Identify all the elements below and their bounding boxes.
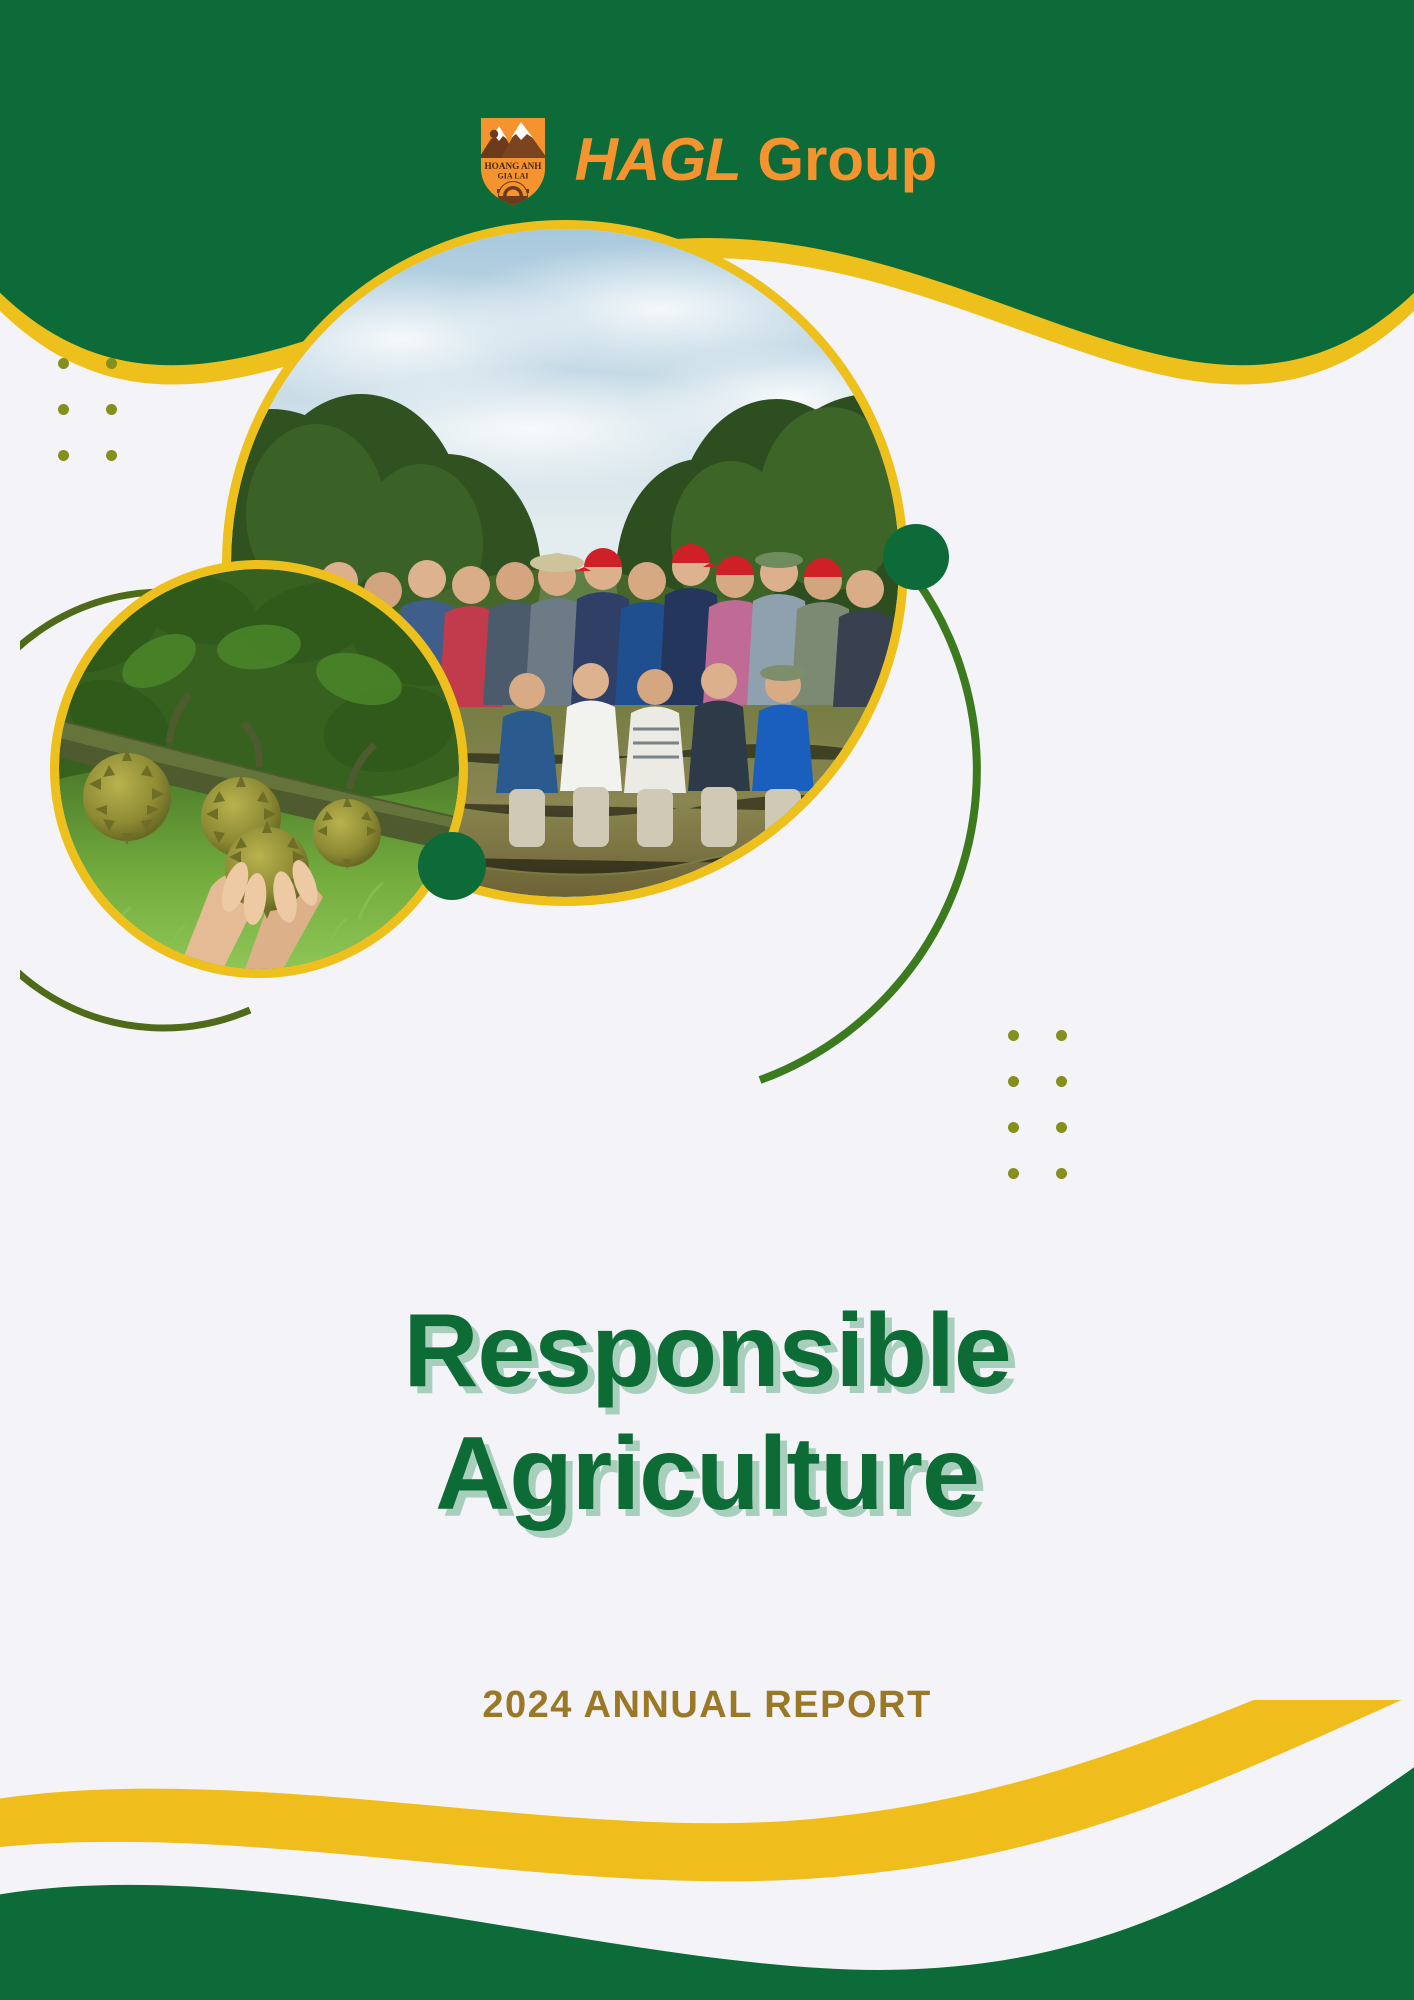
cover-title-line-2: Agriculture	[0, 1413, 1414, 1536]
bottom-wave-green	[0, 1760, 1414, 2000]
dot-grid-right	[1008, 1030, 1104, 1214]
brand-name: HAGL Group	[575, 130, 938, 190]
grid-dot	[1056, 1076, 1067, 1087]
grid-dot	[106, 404, 117, 415]
people-front-row	[496, 663, 814, 847]
cover-title-line-1: Responsible	[0, 1290, 1414, 1413]
brand-name-hagl: HAGL	[575, 126, 741, 193]
grid-dot	[58, 404, 69, 415]
durian-harvest-photo	[50, 560, 468, 978]
brand-lockup: HOANG ANH GIA LAI HAGL Group	[0, 112, 1414, 208]
report-cover-page: HOANG ANH GIA LAI HAGL Group	[0, 0, 1414, 2000]
grid-dot	[1056, 1168, 1067, 1179]
svg-text:HOANG ANH: HOANG ANH	[484, 161, 541, 171]
dot-grid-left	[58, 358, 154, 496]
durian-harvest-photo-image	[59, 569, 459, 969]
grid-dot	[1008, 1168, 1019, 1179]
grid-dot	[106, 450, 117, 461]
bottom-wave-yellow	[0, 1700, 1414, 1881]
accent-dot-right	[883, 524, 949, 590]
grid-dot	[1056, 1030, 1067, 1041]
grid-dot	[1008, 1076, 1019, 1087]
accent-dot-bottom	[418, 832, 486, 900]
grid-dot	[58, 450, 69, 461]
grid-dot	[1056, 1122, 1067, 1133]
svg-text:GIA LAI: GIA LAI	[497, 172, 528, 181]
cover-title: Responsible Agriculture	[0, 1290, 1414, 1535]
grid-dot	[1008, 1030, 1019, 1041]
grid-dot	[106, 358, 117, 369]
brand-name-group: Group	[757, 126, 937, 193]
bottom-wave-decoration	[0, 1700, 1414, 2000]
hagl-shield-logo-icon: HOANG ANH GIA LAI	[477, 112, 549, 208]
grid-dot	[58, 358, 69, 369]
grid-dot	[1008, 1122, 1019, 1133]
cover-subtitle: 2024 ANNUAL REPORT	[0, 1684, 1414, 1727]
